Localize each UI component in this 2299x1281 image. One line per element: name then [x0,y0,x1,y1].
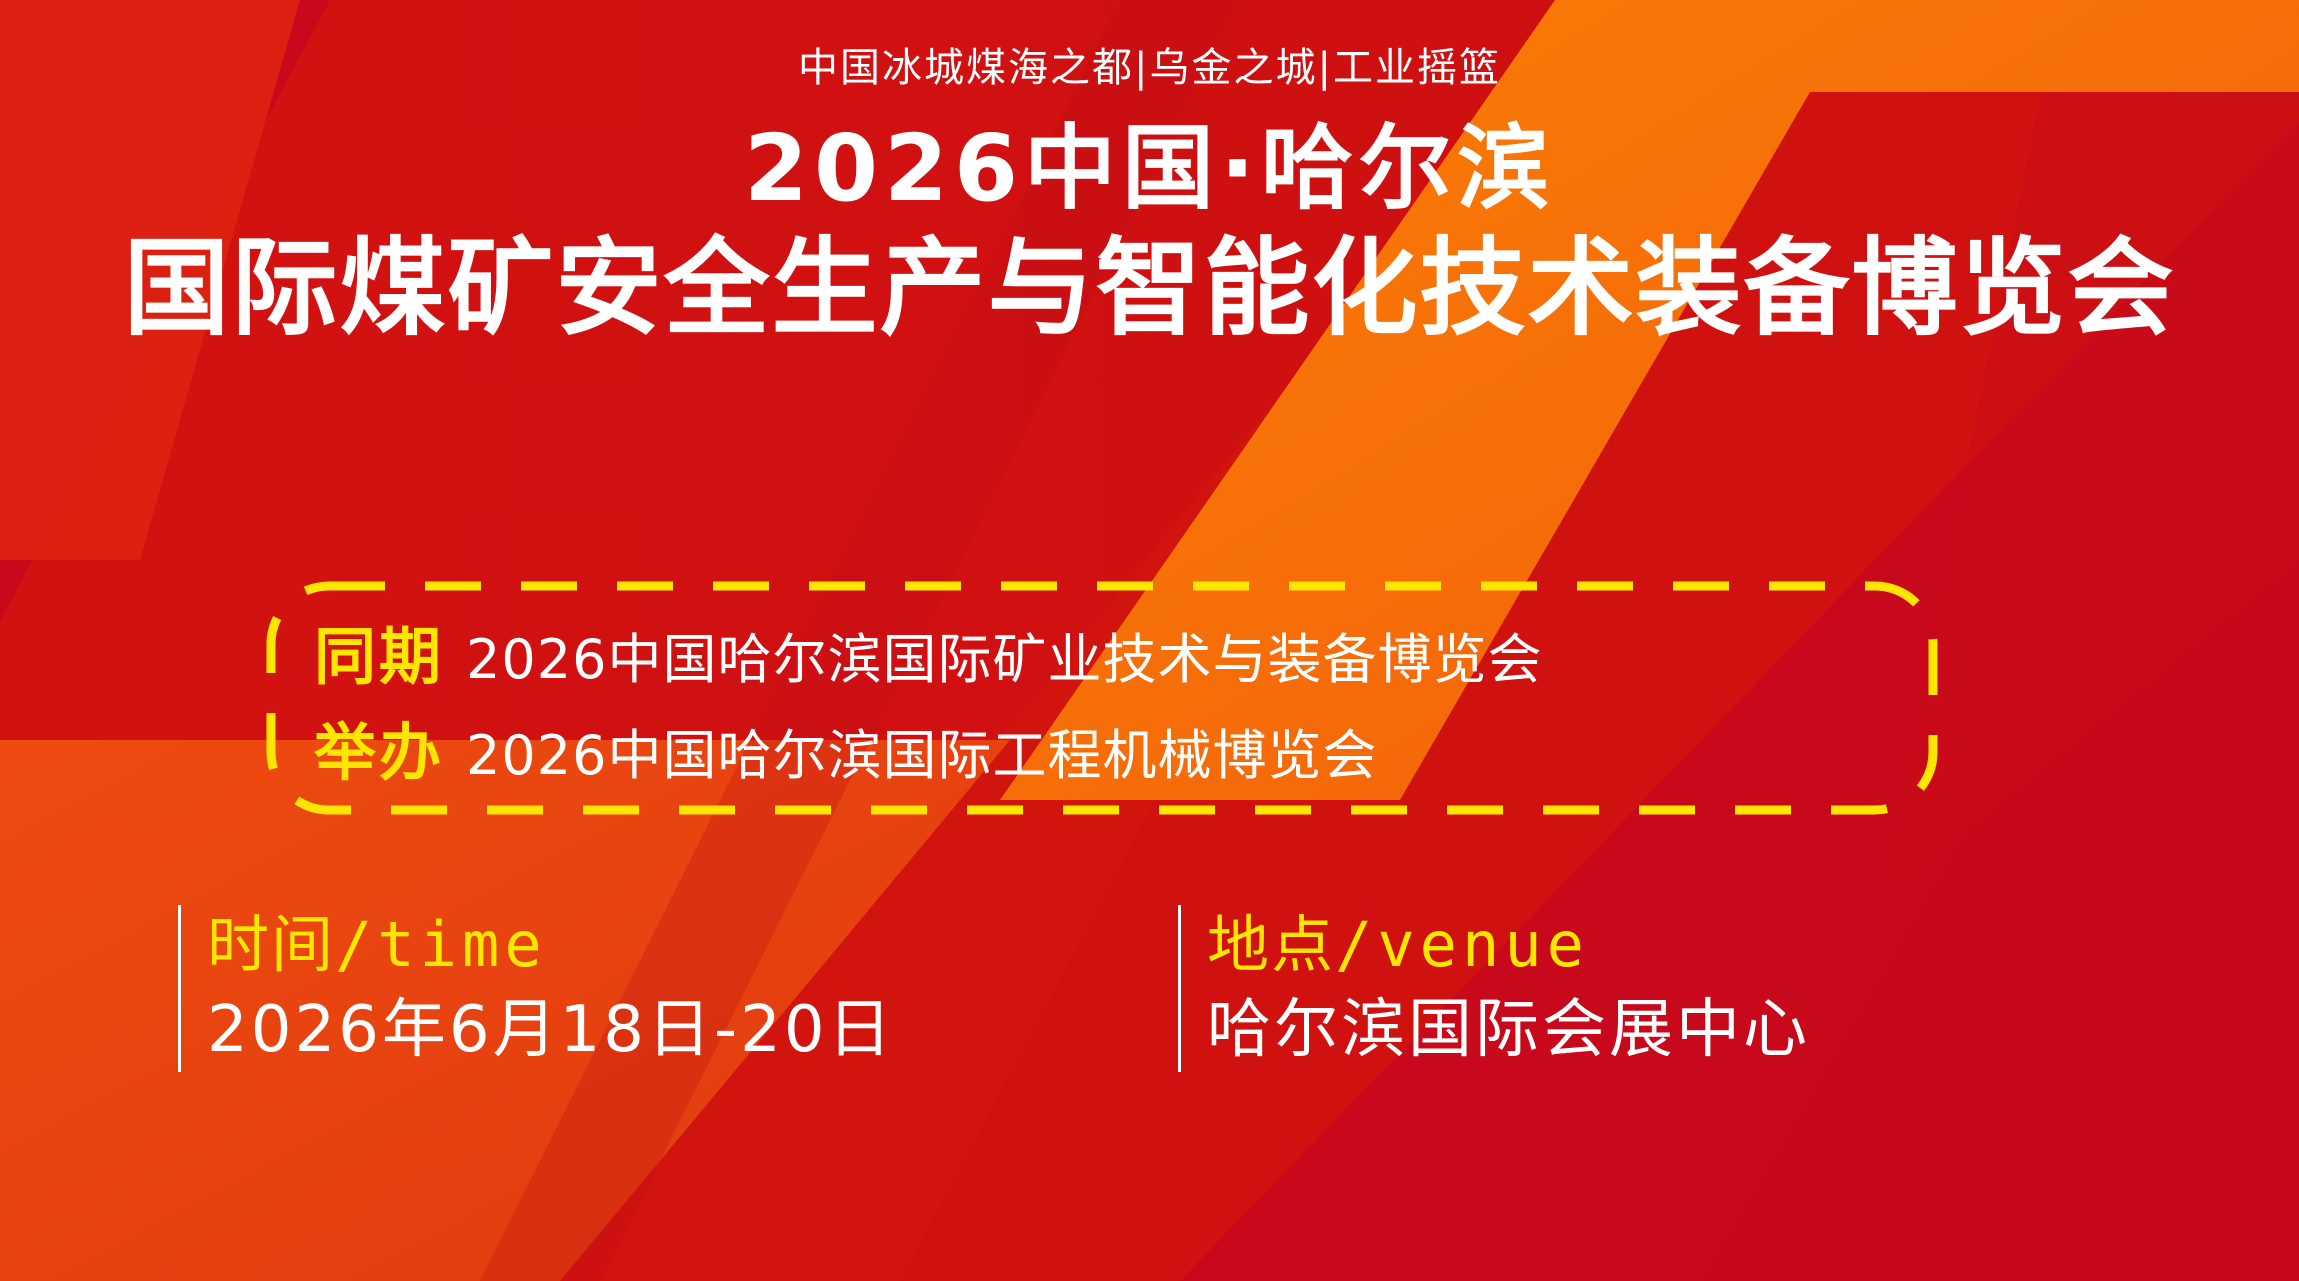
event-time-block: 时间/time 2026年6月18日-20日 [178,905,895,1072]
poster-tagline: 中国冰城煤海之都|乌金之城|工业摇篮 [0,44,2299,92]
concurrent-row-value: 2026中国哈尔滨国际矿业技术与装备博览会 [466,615,1542,694]
venue-label: 地点/venue [1207,905,1810,984]
poster-title-line-2: 国际煤矿安全生产与智能化技术装备博览会 [0,228,2299,350]
venue-divider-rule [1178,905,1181,1072]
concurrent-row-key: 举办 [314,702,444,792]
time-label-cn: 时间 [207,908,335,981]
concurrent-row: 同期 2026中国哈尔滨国际矿业技术与装备博览会 [314,606,1912,696]
venue-label-cn: 地点 [1207,908,1335,981]
concurrent-row-key: 同期 [314,606,444,696]
poster-title-line-1: 2026中国·哈尔滨 [0,116,2299,222]
venue-label-en: venue [1377,908,1589,981]
concurrent-rows: 同期 2026中国哈尔滨国际矿业技术与装备博览会 举办 2026中国哈尔滨国际工… [314,597,1912,801]
time-value: 2026年6月18日-20日 [207,990,895,1072]
time-text: 时间/time 2026年6月18日-20日 [207,905,895,1072]
time-label-en: time [377,908,546,981]
concurrent-row-value: 2026中国哈尔滨国际工程机械博览会 [466,711,1377,790]
time-divider-rule [178,905,181,1072]
time-label-separator: / [335,908,377,981]
venue-label-separator: / [1335,908,1377,981]
poster-content: 中国冰城煤海之都|乌金之城|工业摇篮 2026中国·哈尔滨 国际煤矿安全生产与智… [0,0,2299,1281]
event-venue-block: 地点/venue 哈尔滨国际会展中心 [1178,905,1810,1072]
concurrent-events-box: 同期 2026中国哈尔滨国际矿业技术与装备博览会 举办 2026中国哈尔滨国际工… [262,577,1942,819]
time-label: 时间/time [207,905,895,984]
poster-canvas: 中国冰城煤海之都|乌金之城|工业摇篮 2026中国·哈尔滨 国际煤矿安全生产与智… [0,0,2299,1281]
venue-text: 地点/venue 哈尔滨国际会展中心 [1207,905,1810,1072]
venue-value: 哈尔滨国际会展中心 [1207,990,1810,1072]
concurrent-row: 举办 2026中国哈尔滨国际工程机械博览会 [314,702,1912,792]
